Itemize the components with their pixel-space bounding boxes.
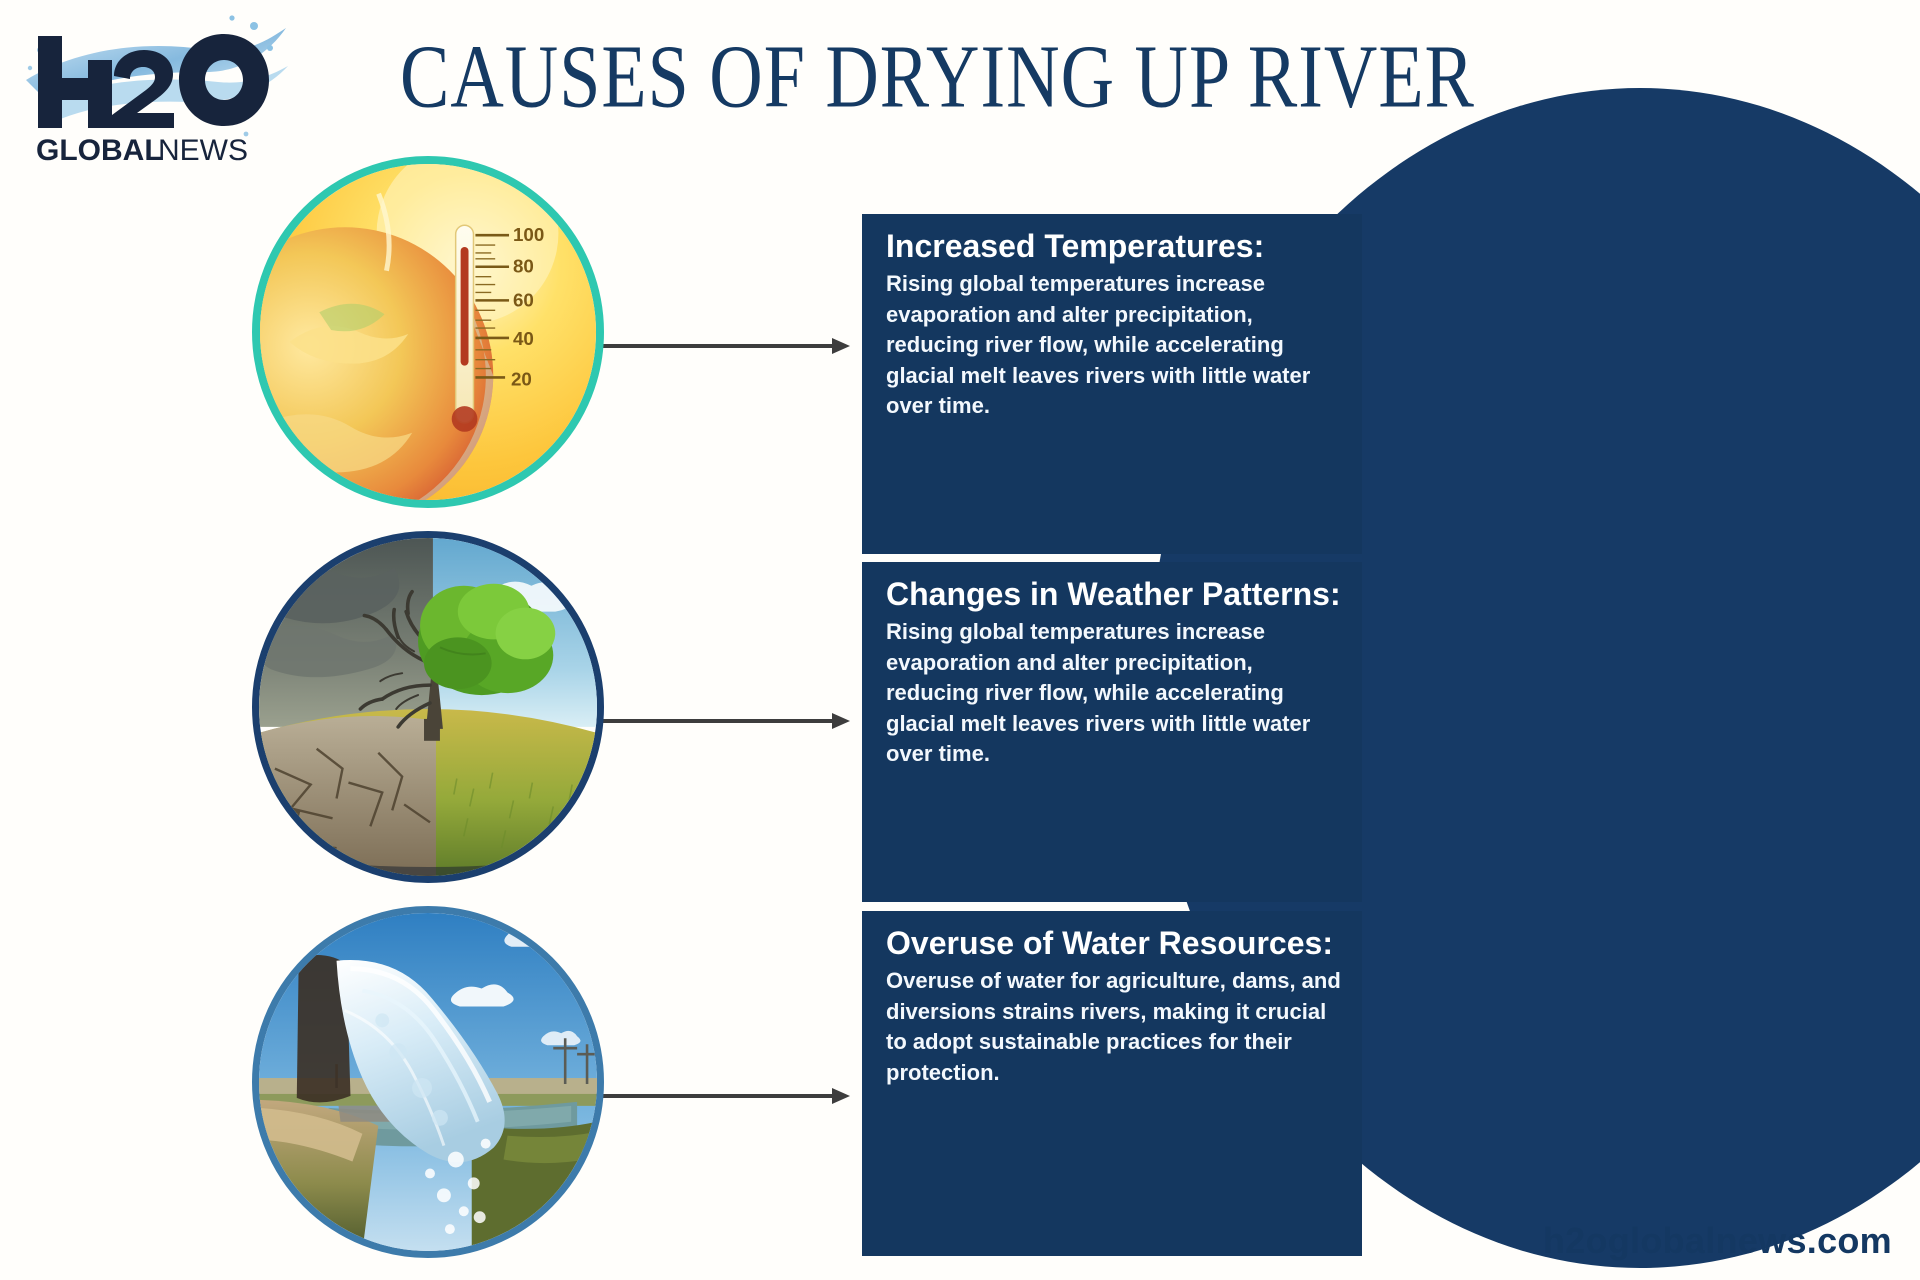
- svg-text:60: 60: [513, 289, 534, 310]
- cause-image-increased-temperatures: 100 80 60 40 20: [252, 156, 604, 508]
- cause-heading-3: Overuse of Water Resources:: [886, 925, 1344, 962]
- svg-text:100: 100: [513, 224, 544, 245]
- svg-text:80: 80: [513, 256, 534, 277]
- cause-heading-2: Changes in Weather Patterns:: [886, 576, 1344, 613]
- cause-card-1: Increased Temperatures: Rising global te…: [862, 214, 1362, 554]
- svg-text:20: 20: [511, 368, 532, 389]
- cause-image-overuse-of-water-resources: [252, 906, 604, 1258]
- arrow-shaft: [600, 1094, 832, 1098]
- cause-body-2: Rising global temperatures increase evap…: [886, 617, 1344, 770]
- logo-water-splash-icon: GLOBAL NEWS: [18, 10, 298, 170]
- arrow-shaft: [600, 344, 832, 348]
- irrigation-canal-water-icon: [259, 913, 597, 1251]
- cause-card-2: Changes in Weather Patterns: Rising glob…: [862, 562, 1362, 902]
- cause-image-changes-in-weather-patterns: [252, 531, 604, 883]
- split-tree-climate-icon: [259, 538, 597, 876]
- arrow-head-icon: [832, 1088, 850, 1104]
- cause-body-3: Overuse of water for agriculture, dams, …: [886, 966, 1344, 1088]
- arrow-shaft: [600, 719, 832, 723]
- hot-earth-thermometer-icon: 100 80 60 40 20: [260, 164, 596, 500]
- cause-body-1: Rising global temperatures increase evap…: [886, 269, 1344, 422]
- arrow-head-icon: [832, 713, 850, 729]
- logo-news-text: NEWS: [158, 134, 248, 167]
- svg-text:40: 40: [513, 328, 534, 349]
- website-url[interactable]: h2oglobalnews.com: [1543, 1220, 1892, 1262]
- connector-arrow-3: [600, 1087, 850, 1105]
- brand-logo: GLOBAL NEWS: [18, 10, 298, 170]
- arrow-head-icon: [832, 338, 850, 354]
- cause-card-3: Overuse of Water Resources: Overuse of w…: [862, 911, 1362, 1256]
- cause-heading-1: Increased Temperatures:: [886, 228, 1344, 265]
- page-title: CAUSES OF DRYING UP RIVER: [400, 32, 1700, 122]
- connector-arrow-1: [600, 337, 850, 355]
- connector-arrow-2: [600, 712, 850, 730]
- logo-global-text: GLOBAL: [36, 134, 163, 167]
